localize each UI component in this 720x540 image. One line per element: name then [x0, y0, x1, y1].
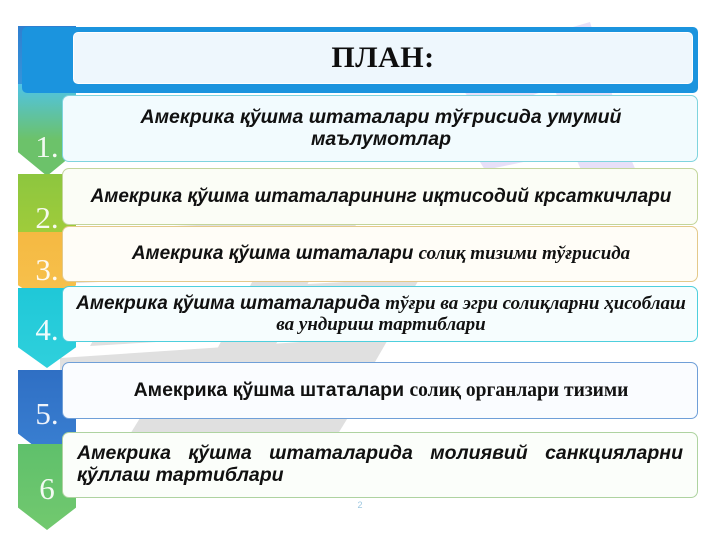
- plan-item-3-segment-1: Амекрика қўшма штаталари: [132, 243, 419, 264]
- plan-item-1[interactable]: Амекрика қўшма штаталари тўғрисида умуми…: [62, 95, 698, 162]
- plan-item-5-segment-2: солиқ органлари тизими: [410, 380, 629, 401]
- plan-item-3-text: Амекрика қўшма штаталари солиқ тизими тў…: [73, 243, 689, 264]
- plan-item-2-text: Амекрика қўшма штаталарининг иқтисодий к…: [73, 186, 689, 207]
- presentation-slide: 1. 2. 3. 4. 5. 6 ПЛАН: Амекрика қўшма шт…: [0, 0, 720, 540]
- page-title: ПЛАН:: [331, 41, 434, 75]
- slide-page-number: 2: [0, 500, 720, 510]
- plan-item-5-text: Амекрика қўшма штаталари солиқ органлари…: [73, 380, 689, 402]
- plan-item-5-segment-1: Амекрика қўшма штаталари: [134, 379, 410, 401]
- plan-item-6-text: Амекрика қўшма штаталарида молиявий санк…: [77, 443, 683, 487]
- plan-item-6[interactable]: Амекрика қўшма штаталарида молиявий санк…: [62, 432, 698, 498]
- plan-item-4-text: Амекрика қўшма штаталарида тўғри ва эгри…: [73, 293, 689, 336]
- plan-item-4[interactable]: Амекрика қўшма штаталарида тўғри ва эгри…: [62, 286, 698, 342]
- plan-item-2[interactable]: Амекрика қўшма штаталарининг иқтисодий к…: [62, 168, 698, 225]
- plan-item-3-segment-2: солиқ тизими тўғрисида: [419, 243, 631, 264]
- plan-item-1-text: Амекрика қўшма штаталари тўғрисида умуми…: [73, 107, 689, 151]
- title-box: ПЛАН:: [73, 32, 693, 84]
- plan-item-4-segment-1: Амекрика қўшма штаталарида: [76, 293, 385, 314]
- plan-item-5[interactable]: Амекрика қўшма штаталари солиқ органлари…: [62, 362, 698, 419]
- plan-item-3[interactable]: Амекрика қўшма штаталари солиқ тизими тў…: [62, 226, 698, 282]
